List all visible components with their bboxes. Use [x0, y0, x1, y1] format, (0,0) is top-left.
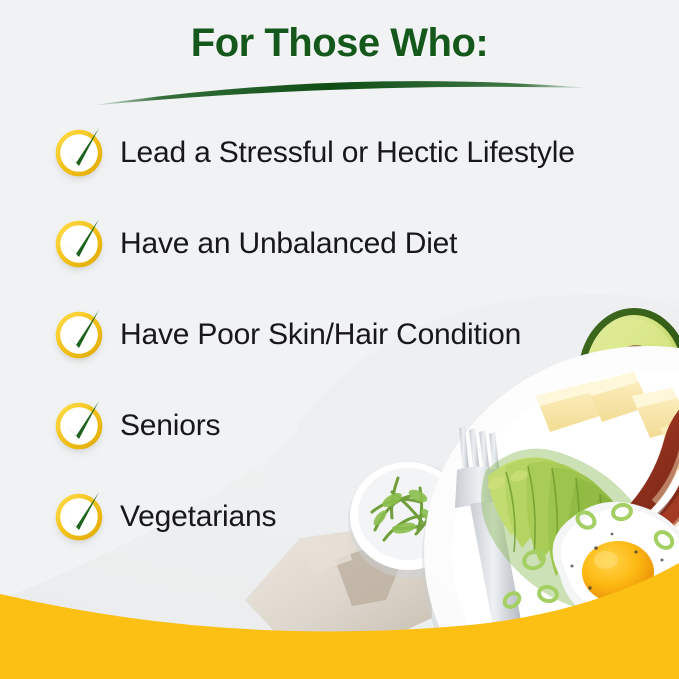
check-circle-icon — [54, 401, 104, 451]
list-item-label: Lead a Stressful or Hectic Lifestyle — [120, 128, 575, 178]
infographic-panel: For Those Who: — [0, 0, 679, 679]
list-item[interactable]: Lead a Stressful or Hectic Lifestyle — [54, 128, 664, 219]
list-item[interactable]: Have Poor Skin/Hair Condition — [54, 310, 664, 401]
list-item[interactable]: Have an Unbalanced Diet — [54, 219, 664, 310]
list-item[interactable]: Seniors — [54, 401, 664, 492]
check-circle-icon — [54, 492, 104, 542]
list-item-label: Have an Unbalanced Diet — [120, 219, 457, 269]
check-circle-icon — [54, 128, 104, 178]
benefits-list: Lead a Stressful or Hectic Lifestyle Hav… — [54, 128, 664, 583]
yellow-swoosh — [0, 539, 679, 679]
list-item-label: Vegetarians — [120, 492, 276, 542]
check-circle-icon — [54, 219, 104, 269]
check-circle-icon — [54, 310, 104, 360]
list-item-label: Seniors — [120, 401, 220, 451]
green-arc-divider — [0, 60, 679, 120]
list-item-label: Have Poor Skin/Hair Condition — [120, 310, 521, 360]
